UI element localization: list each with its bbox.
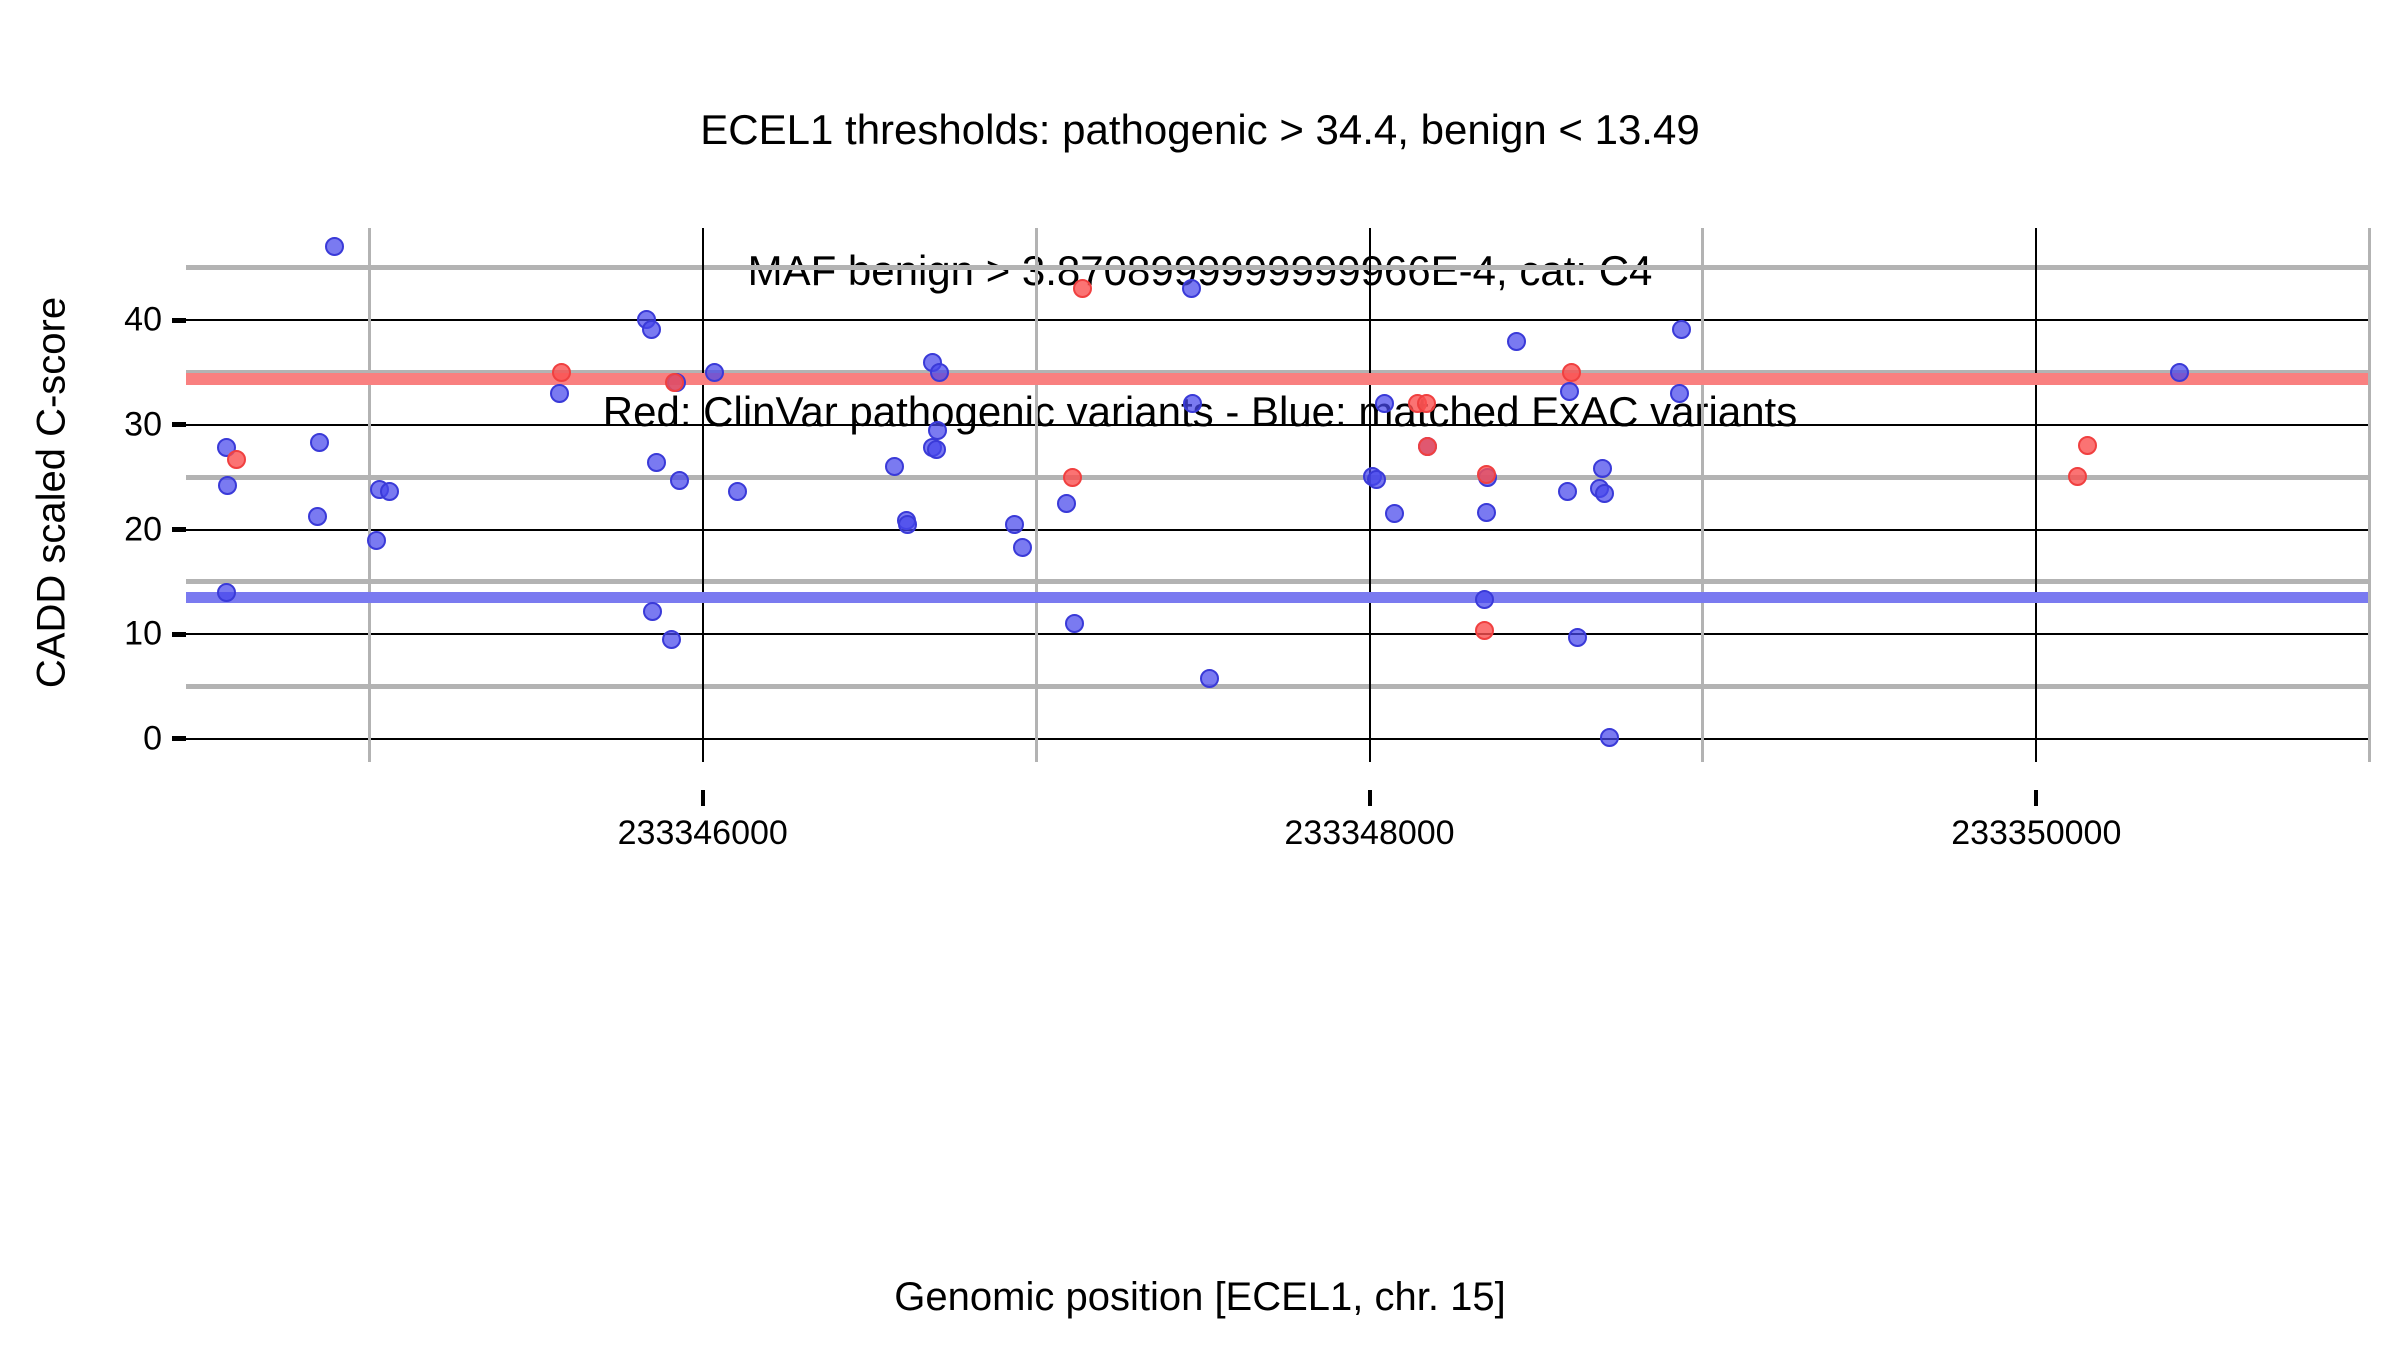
- data-point-exac: [1182, 279, 1201, 298]
- data-point-exac: [1507, 332, 1526, 351]
- y-tick-label: 20: [124, 510, 162, 549]
- data-point-exac: [218, 476, 237, 495]
- data-point-exac: [662, 630, 681, 649]
- gridline-horizontal: [186, 475, 2368, 480]
- data-point-exac: [1013, 538, 1032, 557]
- data-point-exac: [217, 583, 236, 602]
- x-tick-mark: [701, 790, 705, 806]
- plot-area: [186, 228, 2368, 762]
- data-point-exac: [310, 433, 329, 452]
- data-point-exac: [647, 453, 666, 472]
- data-point-exac: [1065, 614, 1084, 633]
- data-point-clinvar: [1417, 394, 1436, 413]
- data-point-exac: [670, 471, 689, 490]
- data-point-exac: [1558, 482, 1577, 501]
- gridline-horizontal: [186, 579, 2368, 584]
- data-point-exac: [1367, 470, 1386, 489]
- gridline-vertical-major: [2035, 228, 2037, 762]
- y-tick-mark: [172, 527, 186, 532]
- gridline-horizontal: [186, 684, 2368, 689]
- data-point-exac: [1475, 590, 1494, 609]
- pathogenic-threshold-band: [186, 373, 2368, 385]
- data-point-exac: [1005, 515, 1024, 534]
- data-point-exac: [927, 440, 946, 459]
- gridline-vertical: [2368, 228, 2371, 762]
- benign-threshold-band: [186, 592, 2368, 604]
- gridline-horizontal-major: [186, 529, 2368, 531]
- y-tick-mark: [172, 422, 186, 427]
- data-point-exac: [728, 482, 747, 501]
- data-point-clinvar: [227, 450, 246, 469]
- gridline-horizontal-major: [186, 424, 2368, 426]
- data-point-clinvar: [1477, 465, 1496, 484]
- x-tick-label: 233348000: [1284, 814, 1454, 853]
- data-point-exac: [642, 320, 661, 339]
- data-point-exac: [1200, 669, 1219, 688]
- data-point-clinvar: [1562, 363, 1581, 382]
- data-point-exac: [1477, 503, 1496, 522]
- x-tick-mark: [1368, 790, 1372, 806]
- data-point-exac: [1568, 628, 1587, 647]
- data-point-exac: [367, 531, 386, 550]
- data-point-exac: [325, 237, 344, 256]
- data-point-clinvar: [552, 363, 571, 382]
- gridline-horizontal-major: [186, 738, 2368, 740]
- data-point-clinvar: [1475, 621, 1494, 640]
- gridline-vertical-major: [1369, 228, 1371, 762]
- x-tick-label: 233346000: [618, 814, 788, 853]
- chart-canvas: ECEL1 thresholds: pathogenic > 34.4, ben…: [0, 0, 2400, 1350]
- data-point-exac: [1672, 320, 1691, 339]
- y-axis-labels: 010203040: [0, 228, 186, 762]
- data-point-exac: [885, 457, 904, 476]
- data-point-clinvar: [2068, 467, 2087, 486]
- y-tick-label: 30: [124, 405, 162, 444]
- data-point-exac: [928, 421, 947, 440]
- data-point-exac: [308, 507, 327, 526]
- y-tick-label: 40: [124, 301, 162, 340]
- y-tick-label: 10: [124, 615, 162, 654]
- gridline-horizontal-major: [186, 633, 2368, 635]
- gridline-vertical-major: [702, 228, 704, 762]
- data-point-clinvar: [1063, 468, 1082, 487]
- gridline-vertical: [1701, 228, 1704, 762]
- data-point-clinvar: [1073, 279, 1092, 298]
- data-point-exac: [643, 602, 662, 621]
- data-point-exac: [1057, 494, 1076, 513]
- gridline-vertical: [368, 228, 371, 762]
- data-point-exac: [1600, 728, 1619, 747]
- data-point-exac: [1670, 384, 1689, 403]
- gridline-vertical: [1035, 228, 1038, 762]
- data-point-clinvar: [1418, 437, 1437, 456]
- title-line-1: ECEL1 thresholds: pathogenic > 34.4, ben…: [0, 106, 2400, 153]
- data-point-exac: [380, 482, 399, 501]
- x-axis-title: Genomic position [ECEL1, chr. 15]: [0, 1275, 2400, 1320]
- data-point-exac: [705, 363, 724, 382]
- data-point-exac: [1560, 382, 1579, 401]
- data-point-exac: [1385, 504, 1404, 523]
- data-point-clinvar: [2078, 436, 2097, 455]
- data-point-exac: [550, 384, 569, 403]
- data-point-exac: [898, 515, 917, 534]
- x-tick-mark: [2034, 790, 2038, 806]
- y-tick-mark: [172, 632, 186, 637]
- y-tick-mark: [172, 736, 186, 741]
- gridline-horizontal: [186, 265, 2368, 270]
- data-point-exac: [1183, 394, 1202, 413]
- y-tick-mark: [172, 318, 186, 323]
- data-point-exac: [2170, 363, 2189, 382]
- data-point-exac: [930, 363, 949, 382]
- y-tick-label: 0: [143, 719, 162, 758]
- x-axis-labels: 233346000233348000233350000: [186, 790, 2368, 870]
- y-axis-title: CADD scaled C-score: [30, 213, 75, 773]
- data-point-exac: [1595, 484, 1614, 503]
- data-point-exac: [1375, 394, 1394, 413]
- gridline-horizontal-major: [186, 319, 2368, 321]
- x-tick-label: 233350000: [1951, 814, 2121, 853]
